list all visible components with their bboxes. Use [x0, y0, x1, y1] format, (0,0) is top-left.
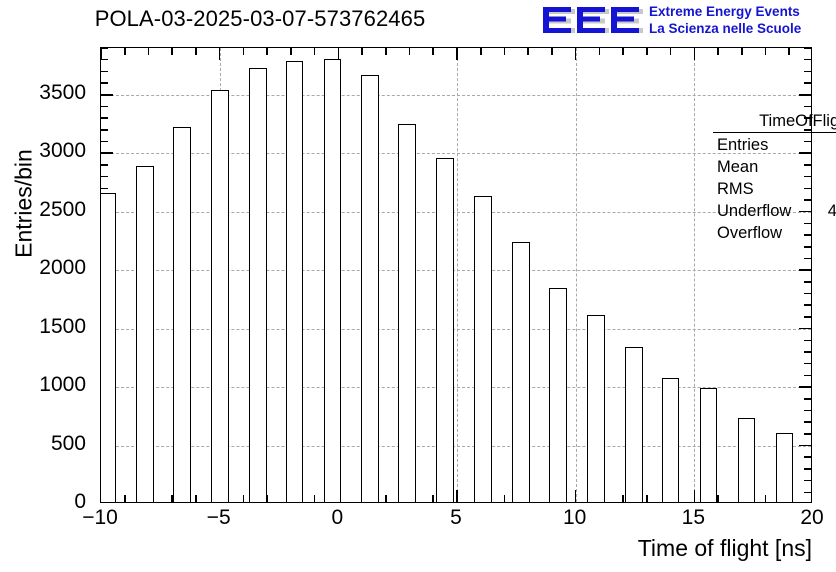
- histogram-bar: [625, 347, 643, 503]
- stats-title: TimeOfFlight: [713, 112, 836, 132]
- eee-logo-mark: [541, 5, 645, 37]
- histogram-bar: [101, 193, 116, 502]
- stats-divider: [713, 132, 836, 133]
- x-axis-tick-label: 0: [331, 506, 343, 530]
- y-axis-tick-label: 3000: [39, 139, 86, 163]
- page-title: POLA-03-2025-03-07-573762465: [0, 6, 520, 32]
- histogram-bar: [776, 433, 794, 502]
- y-axis-tick-label: 1500: [39, 315, 86, 339]
- histogram-bar: [136, 166, 154, 502]
- histogram-bar: [398, 124, 416, 502]
- histogram-bar: [286, 61, 304, 502]
- stats-rows: Entries63113Mean1.453RMS7.103Underflow4.…: [713, 134, 836, 244]
- histogram-bar: [512, 242, 530, 502]
- histogram-bar: [211, 90, 229, 502]
- stats-row-value: 4.27e+04: [828, 200, 836, 222]
- x-axis-tick-labels: −10−505101520: [100, 506, 812, 534]
- y-axis-tick-label: 2000: [39, 256, 86, 280]
- x-axis-tick-label: −10: [82, 506, 118, 530]
- x-axis-tick-label: 20: [800, 506, 823, 530]
- y-axis-tick-label: 1000: [39, 373, 86, 397]
- stats-row-key: Underflow: [717, 200, 791, 222]
- histogram-bar: [249, 68, 267, 502]
- y-axis-title: Entries/bin: [11, 94, 38, 314]
- stats-row: Underflow4.27e+04: [713, 200, 836, 222]
- histogram-bar: [738, 418, 756, 502]
- histogram-bar: [587, 315, 605, 502]
- stats-row-key: Overflow: [717, 222, 782, 244]
- x-axis-tick-label: 5: [450, 506, 462, 530]
- y-axis-tick-label: 2500: [39, 198, 86, 222]
- x-axis-tick-label: 10: [563, 506, 586, 530]
- eee-logo-text: Extreme Energy Events La Scienza nelle S…: [649, 4, 835, 37]
- stats-row-key: RMS: [717, 178, 754, 200]
- x-axis-title: Time of flight [ns]: [512, 535, 812, 562]
- y-axis-tick-label: 500: [51, 432, 86, 456]
- histogram-bars: [101, 48, 811, 502]
- histogram-bar: [173, 127, 191, 502]
- stats-row: RMS7.103: [713, 178, 836, 200]
- stats-row-key: Entries: [717, 134, 768, 156]
- stats-row: Entries63113: [713, 134, 836, 156]
- plot-frame: TimeOfFlight Entries63113Mean1.453RMS7.1…: [100, 47, 812, 503]
- eee-logo-line1: Extreme Energy Events: [649, 4, 835, 21]
- histogram-bar: [700, 388, 718, 502]
- histogram-bar: [474, 196, 492, 502]
- histogram-bar: [662, 378, 680, 502]
- stats-row: Overflow2622: [713, 222, 836, 244]
- x-axis-tick-label: 15: [682, 506, 705, 530]
- y-axis-tick-label: 3500: [39, 81, 86, 105]
- histogram-bar: [324, 59, 342, 502]
- histogram-bar: [436, 158, 454, 502]
- stats-row: Mean1.453: [713, 156, 836, 178]
- x-axis-tick-label: −5: [207, 506, 231, 530]
- eee-logo: Extreme Energy Events La Scienza nelle S…: [541, 3, 833, 39]
- histogram-bar: [549, 288, 567, 502]
- stats-row-key: Mean: [717, 156, 758, 178]
- stats-box: TimeOfFlight Entries63113Mean1.453RMS7.1…: [713, 112, 836, 244]
- eee-logo-line2: La Scienza nelle Scuole: [649, 21, 835, 38]
- histogram-bar: [361, 75, 379, 502]
